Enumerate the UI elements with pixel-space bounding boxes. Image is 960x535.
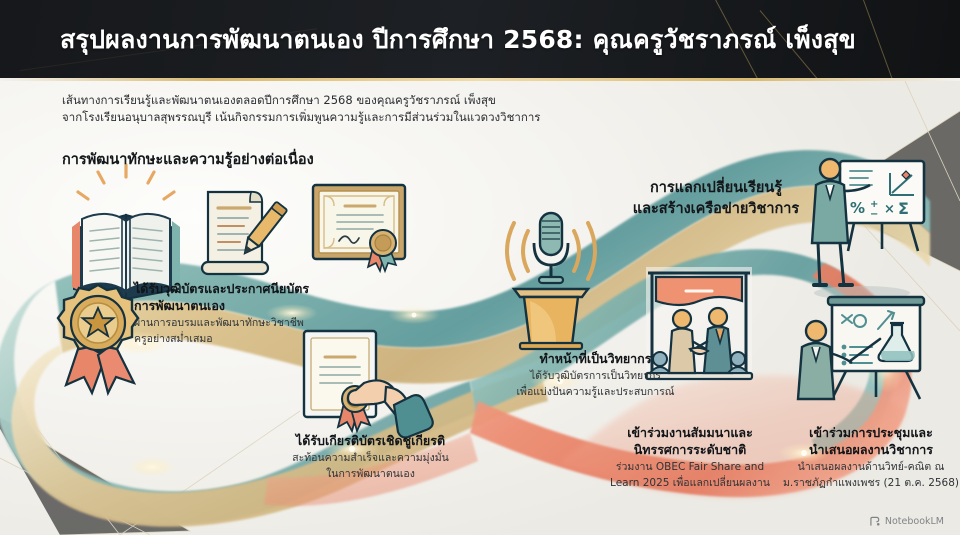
scroll-pencil-icon: [202, 192, 287, 274]
milestone-desc-line-1: ผ่านการอบรมและพัฒนาทักษะวิชาชีพ: [134, 316, 359, 332]
milestone-desc-line-2: ม.ราชภัฏกำแพงเพชร (21 ต.ค. 2568): [782, 476, 960, 492]
board-symbol-percent: %: [850, 199, 865, 217]
milestone-desc-line-2: ในการพัฒนาตนเอง: [243, 467, 498, 483]
section-heading-right-line-2: และสร้างเครือข่ายวิชาการ: [608, 199, 824, 220]
watermark-label: NotebookLM: [885, 516, 944, 527]
intro-paragraph: เส้นทางการเรียนรู้และพัฒนาตนเองตลอดปีการ…: [62, 92, 622, 126]
open-book-icon: [72, 165, 180, 299]
page-title: สรุปผลงานการพัฒนาตนเอง ปีการศึกษา 2568: …: [60, 20, 920, 60]
milestone-desc: ร่วมงาน OBEC Fair Share and Learn 2025 เ…: [600, 460, 780, 491]
notebooklm-logo-icon: [870, 516, 881, 527]
milestone-desc-line-1: ร่วมงาน OBEC Fair Share and: [600, 460, 780, 476]
header-gold-rule: [0, 78, 960, 81]
milestone-caption-certificate: ได้รับวุฒิบัตรและประกาศนียบัตร การพัฒนาต…: [134, 280, 359, 347]
watermark: NotebookLM: [870, 516, 944, 527]
board-symbol-sigma: Σ: [898, 199, 909, 218]
framed-certificate-icon: [313, 185, 405, 271]
section-heading-right-line-1: การแลกเปลี่ยนเรียนรู้: [608, 178, 824, 199]
milestone-caption-expo: เข้าร่วมงานสัมมนาและ นิทรรศการระดับชาติ …: [600, 424, 780, 491]
milestone-desc: นำเสนอผลงานด้านวิทย์-คณิต ณ ม.ราชภัฏกำแพ…: [782, 460, 960, 491]
milestone-desc: ผ่านการอบรมและพัฒนาทักษะวิชาชีพ ครูอย่าง…: [134, 316, 359, 347]
milestone-desc-line-2: Learn 2025 เพื่อแลกเปลี่ยนผลงาน: [600, 476, 780, 492]
intro-line-1: เส้นทางการเรียนรู้และพัฒนาตนเองตลอดปีการ…: [62, 92, 622, 109]
milestone-title-line-2: นำเสนอผลงานวิชาการ: [782, 441, 960, 458]
header-bar: สรุปผลงานการพัฒนาตนเอง ปีการศึกษา 2568: …: [0, 0, 960, 78]
milestone-desc-line-1: นำเสนอผลงานด้านวิทย์-คณิต ณ: [782, 460, 960, 476]
milestone-desc-line-1: สะท้อนความสำเร็จและความมุ่งมั่น: [243, 451, 498, 467]
milestone-title-line-1: เข้าร่วมการประชุมและ: [782, 424, 960, 441]
milestone-title: ทำหน้าที่เป็นวิทยากร: [478, 350, 713, 367]
milestone-desc-line-2: ครูอย่างสม่ำเสมอ: [134, 332, 359, 348]
milestone-title-line-2: การพัฒนาตนเอง: [134, 297, 359, 314]
milestone-desc: ได้รับวุฒิบัตรการเป็นวิทยากร เพื่อแบ่งปั…: [478, 369, 713, 400]
milestone-title-line-1: ทำหน้าที่เป็นวิทยากร: [478, 350, 713, 367]
milestone-title: ได้รับเกียรติบัตรเชิดชูเกียรติ: [243, 432, 498, 449]
milestone-title: เข้าร่วมงานสัมมนาและ นิทรรศการระดับชาติ: [600, 424, 780, 458]
section-heading-right: การแลกเปลี่ยนเรียนรู้ และสร้างเครือข่ายว…: [608, 178, 824, 220]
milestone-caption-speaker: ทำหน้าที่เป็นวิทยากร ได้รับวุฒิบัตรการเป…: [478, 350, 713, 400]
board-symbol-times: ×: [884, 202, 895, 217]
milestone-title: ได้รับวุฒิบัตรและประกาศนียบัตร การพัฒนาต…: [134, 280, 359, 314]
milestone-title: เข้าร่วมการประชุมและ นำเสนอผลงานวิชาการ: [782, 424, 960, 458]
milestone-title-line-1: เข้าร่วมงานสัมมนาและ: [600, 424, 780, 441]
milestone-desc-line-2: เพื่อแบ่งปันความรู้และประสบการณ์: [478, 385, 713, 401]
board-symbol-minus: −: [870, 209, 878, 220]
milestone-caption-conference: เข้าร่วมการประชุมและ นำเสนอผลงานวิชาการ …: [782, 424, 960, 491]
intro-line-2: จากโรงเรียนอนุบาลสุพรรณบุรี เน้นกิจกรรมก…: [62, 109, 622, 126]
milestone-title-line-2: นิทรรศการระดับชาติ: [600, 441, 780, 458]
medal-icon: [58, 285, 138, 393]
section-heading-left: การพัฒนาทักษะและความรู้อย่างต่อเนื่อง: [62, 148, 314, 171]
infographic-canvas: % + − × Σ: [0, 0, 960, 535]
milestone-title-line-1: ได้รับวุฒิบัตรและประกาศนียบัตร: [134, 280, 359, 297]
milestone-title-line-1: ได้รับเกียรติบัตรเชิดชูเกียรติ: [243, 432, 498, 449]
milestone-caption-honor: ได้รับเกียรติบัตรเชิดชูเกียรติ สะท้อนควา…: [243, 432, 498, 482]
milestone-desc-line-1: ได้รับวุฒิบัตรการเป็นวิทยากร: [478, 369, 713, 385]
milestone-desc: สะท้อนความสำเร็จและความมุ่งมั่น ในการพัฒ…: [243, 451, 498, 482]
